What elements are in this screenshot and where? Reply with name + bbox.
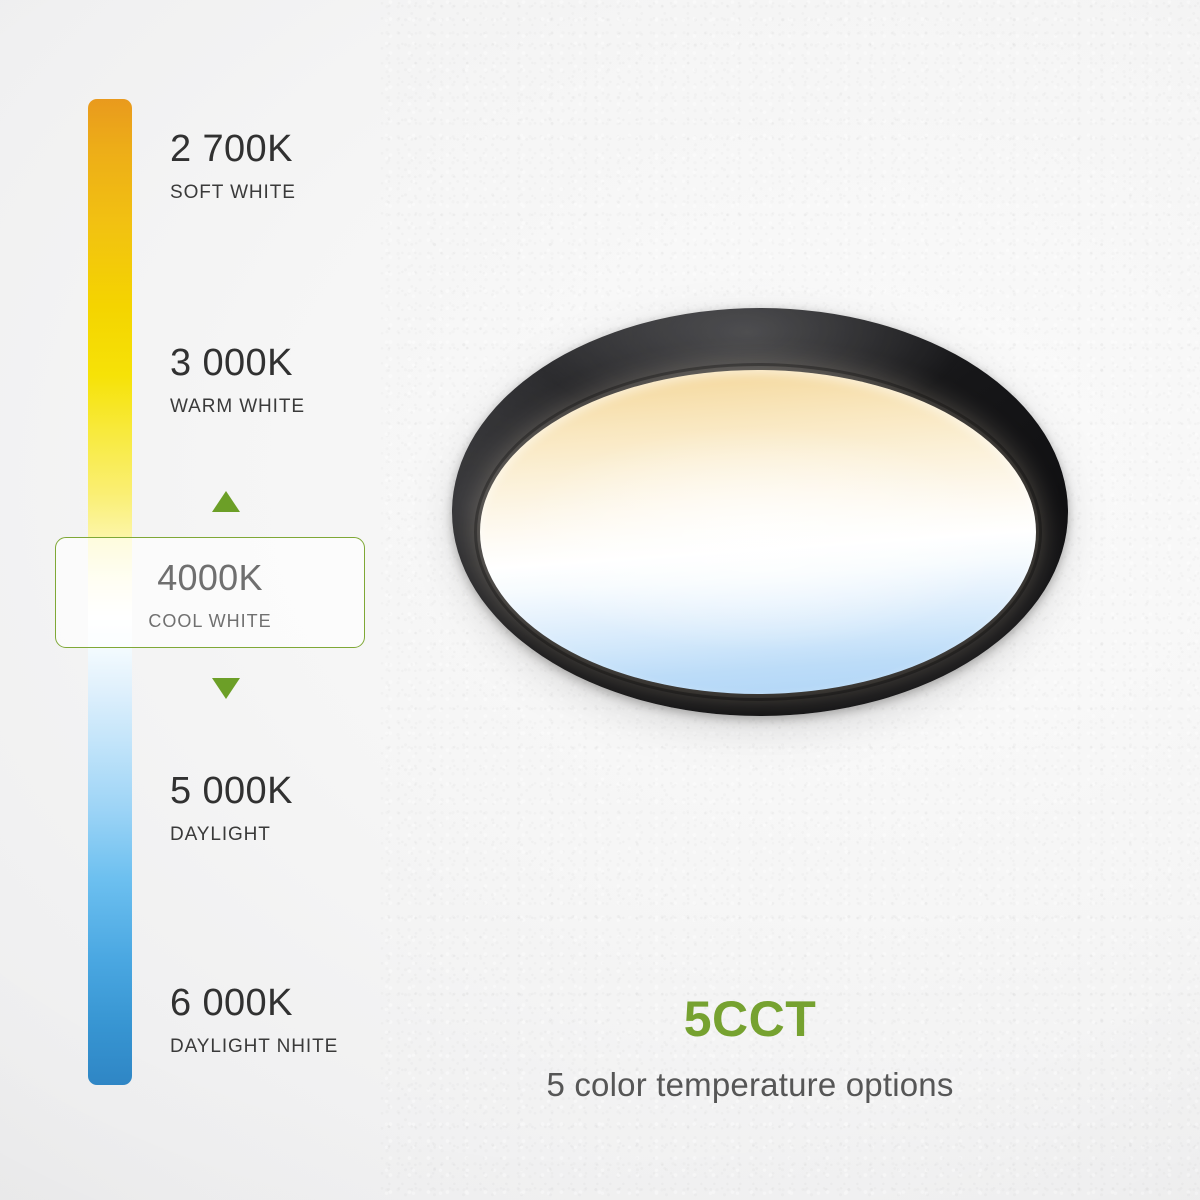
headline-subtitle: 5 color temperature options bbox=[400, 1068, 1100, 1101]
temp-value-5000k: 5 000K bbox=[170, 772, 293, 810]
selected-temperature-callout[interactable]: 4000K COOL WHITE bbox=[55, 537, 365, 648]
temp-value-2700k: 2 700K bbox=[170, 130, 296, 168]
temp-name-3000k: WARM WHITE bbox=[170, 397, 305, 416]
callout-name-4000k: COOL WHITE bbox=[56, 612, 364, 630]
temp-name-5000k: DAYLIGHT bbox=[170, 825, 293, 844]
temp-name-2700k: SOFT WHITE bbox=[170, 183, 296, 202]
temp-name-6000k: DAYLIGHT NHITE bbox=[170, 1037, 338, 1056]
temp-step-2700k: 2 700K SOFT WHITE bbox=[170, 130, 296, 202]
headline-5cct: 5CCT bbox=[440, 994, 1060, 1044]
temp-step-5000k: 5 000K DAYLIGHT bbox=[170, 772, 293, 844]
led-ceiling-light-product bbox=[452, 308, 1068, 720]
temp-step-3000k: 3 000K WARM WHITE bbox=[170, 344, 305, 416]
temp-step-6000k: 6 000K DAYLIGHT NHITE bbox=[170, 984, 338, 1056]
temp-value-6000k: 6 000K bbox=[170, 984, 338, 1022]
callout-value-4000k: 4000K bbox=[56, 560, 364, 596]
infographic-canvas: 2 700K SOFT WHITE 3 000K WARM WHITE 5 00… bbox=[0, 0, 1200, 1200]
triangle-down-icon[interactable] bbox=[212, 678, 240, 699]
temp-value-3000k: 3 000K bbox=[170, 344, 305, 382]
triangle-up-icon[interactable] bbox=[212, 491, 240, 512]
fixture-inner-ring bbox=[474, 363, 1042, 701]
